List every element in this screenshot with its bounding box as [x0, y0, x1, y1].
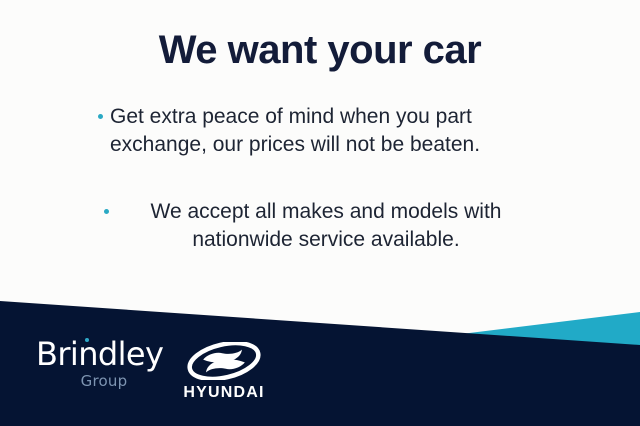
logo-strip: Brindley Group HYUNDAI — [36, 338, 276, 401]
hyundai-wordmark: HYUNDAI — [172, 385, 276, 401]
list-item: Get extra peace of mind when you part ex… — [70, 103, 570, 160]
brindley-accent-dot-icon — [85, 338, 89, 342]
teal-accent-wedge — [330, 312, 640, 426]
page-title: We want your car — [0, 28, 640, 72]
benefits-list: Get extra peace of mind when you part ex… — [70, 103, 570, 280]
hyundai-h-oval-emblem — [187, 342, 261, 380]
list-item-label: Get extra peace of mind when you part ex… — [110, 103, 542, 160]
brindley-group-logo: Brindley Group — [36, 338, 154, 389]
bullet-dot-icon — [104, 209, 109, 214]
bullet-dot-icon — [98, 114, 103, 119]
list-item-label: We accept all makes and models with nati… — [116, 198, 536, 255]
advertisement-card: We want your car Get extra peace of mind… — [0, 0, 640, 426]
brindley-group-subtitle: Group — [36, 374, 154, 389]
list-item: We accept all makes and models with nati… — [70, 198, 570, 255]
brindley-wordmark: Brindley — [36, 338, 154, 370]
hyundai-logo: HYUNDAI — [172, 342, 276, 401]
